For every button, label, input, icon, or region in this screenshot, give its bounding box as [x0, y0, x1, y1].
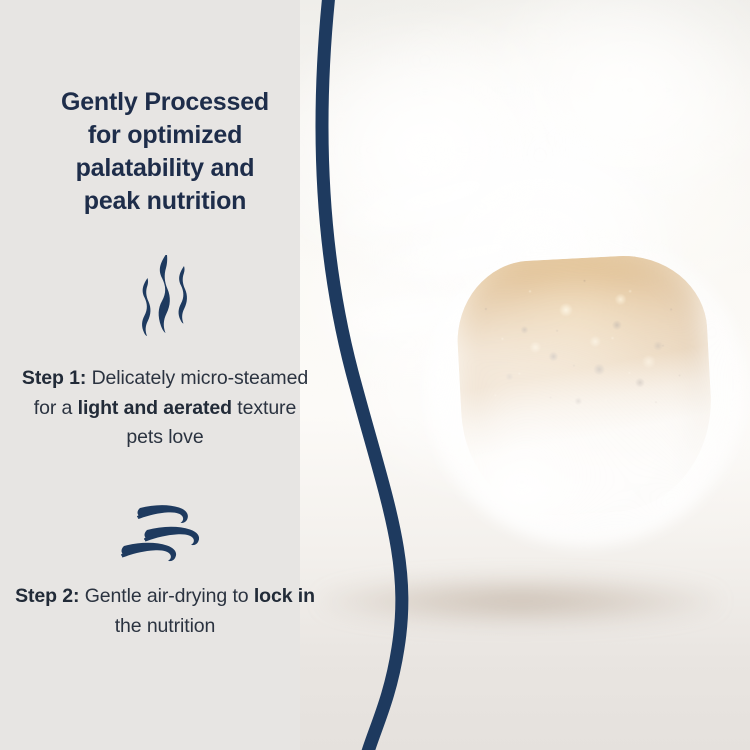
- product-photo-panel: [300, 0, 750, 750]
- kibble-contact-shadow: [320, 578, 720, 624]
- step-1-label: Step 1:: [22, 367, 86, 389]
- headline-line-1: Gently Processed: [22, 86, 308, 119]
- step-2-text-a: Gentle air-drying to: [79, 585, 253, 607]
- headline-line-3: palatability and: [22, 152, 308, 185]
- step-1-emphasis: light and aerated: [78, 397, 232, 419]
- steam-icon: [22, 252, 308, 341]
- step-1-description: Step 1: Delicately micro-steamed for a l…: [14, 364, 316, 453]
- headline-line-2: for optimized: [22, 119, 308, 152]
- step-2-emphasis: lock in: [254, 585, 315, 607]
- air-flow-icon-glyph: [116, 500, 214, 566]
- step-2-description: Step 2: Gentle air-drying to lock in the…: [14, 582, 316, 641]
- air-flow-icon: [22, 500, 308, 571]
- step-2-text-b: the nutrition: [115, 615, 216, 637]
- infographic-canvas: Gently Processed for optimized palatabil…: [0, 0, 750, 750]
- kibble-body: [453, 252, 716, 520]
- left-content-column: Gently Processed for optimized palatabil…: [0, 0, 330, 750]
- kibble-piece: [460, 258, 710, 513]
- headline-line-4: peak nutrition: [22, 185, 308, 218]
- steam-icon-glyph: [129, 252, 201, 336]
- page-title: Gently Processed for optimized palatabil…: [22, 86, 308, 218]
- kibble-grain-texture: [453, 252, 716, 520]
- step-2-label: Step 2:: [15, 585, 79, 607]
